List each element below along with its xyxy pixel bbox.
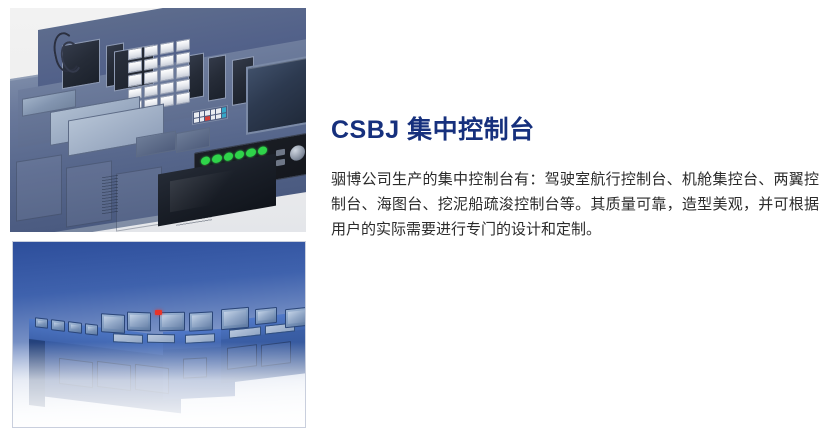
- trackball-icon: [290, 144, 305, 162]
- ventilation-grille: [102, 175, 118, 216]
- monitor: [285, 307, 306, 329]
- monitor: [127, 312, 151, 332]
- module-button: [276, 149, 285, 157]
- monitor: [101, 313, 125, 334]
- monitor: [189, 311, 213, 331]
- monitor: [51, 319, 65, 332]
- display-screen: [208, 54, 226, 101]
- monitor: [255, 307, 277, 325]
- floor-fade: [13, 342, 305, 427]
- long-integrated-console-photo[interactable]: [12, 241, 306, 428]
- product-image-gallery: [0, 0, 312, 434]
- monitor: [221, 307, 249, 330]
- module-button: [276, 159, 285, 167]
- alarm-lamp-icon: [155, 310, 162, 315]
- monitor: [68, 321, 82, 334]
- bridge-console-illustration: [10, 8, 306, 232]
- display-screen: [188, 53, 204, 100]
- long-console-illustration: [13, 242, 305, 427]
- page-title: CSBJ 集中控制台: [331, 110, 535, 146]
- cabinet-door: [16, 154, 62, 221]
- product-text-content: CSBJ 集中控制台 骃博公司生产的集中控制台有：驾驶室航行控制台、机舱集控台、…: [331, 0, 821, 434]
- chart-display-screen: [246, 53, 306, 135]
- monitor: [35, 317, 48, 329]
- monitor: [159, 312, 185, 331]
- product-intro-page: CSBJ 集中控制台 骃博公司生产的集中控制台有：驾驶室航行控制台、机舱集控台、…: [0, 0, 830, 434]
- bridge-navigation-console-photo[interactable]: [10, 8, 306, 232]
- monitor: [85, 323, 98, 336]
- cabinet-door: [116, 166, 162, 231]
- product-description: 骃博公司生产的集中控制台有：驾驶室航行控制台、机舱集控台、两翼控制台、海图台、挖…: [331, 167, 819, 242]
